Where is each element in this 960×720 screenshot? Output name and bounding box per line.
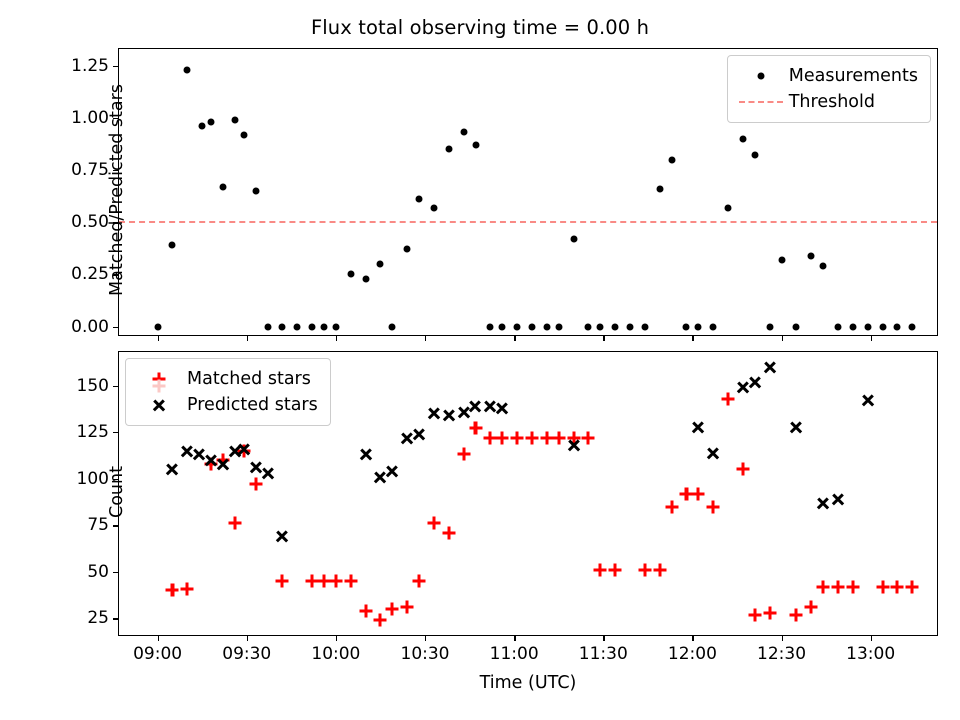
matched-star-point <box>789 607 804 622</box>
predicted-star-point <box>426 406 441 421</box>
matched-star-point <box>426 516 441 531</box>
bottom-y-axis-label: Count <box>107 402 127 582</box>
matched-star-point <box>706 499 721 514</box>
y-tick-mark <box>113 327 119 328</box>
x-tick-mark <box>158 335 159 341</box>
measurement-point <box>472 142 479 149</box>
measurement-point <box>199 123 206 130</box>
measurement-point <box>514 323 521 330</box>
measurement-point <box>279 323 286 330</box>
y-tick-label: 100 <box>77 469 109 489</box>
matched-star-point <box>441 525 456 540</box>
predicted-star-point <box>495 400 510 415</box>
matched-star-point <box>551 430 566 445</box>
y-tick-mark <box>113 386 119 387</box>
legend-label-predicted-stars: Predicted stars <box>183 395 318 415</box>
measurement-point <box>668 156 675 163</box>
predicted-star-point <box>706 445 721 460</box>
measurement-point <box>487 323 494 330</box>
matched-star-point <box>227 516 242 531</box>
x-tick-label: 09:30 <box>222 644 271 664</box>
matched-star-point <box>762 605 777 620</box>
matched-star-point <box>510 430 525 445</box>
predicted-star-point <box>860 393 875 408</box>
x-tick-label: 09:00 <box>133 644 182 664</box>
matched-star-point <box>691 486 706 501</box>
matched-star-point <box>581 430 596 445</box>
matched-star-point <box>328 574 343 589</box>
matched-star-point <box>608 562 623 577</box>
y-tick-label: 0.25 <box>71 264 109 284</box>
measurement-point <box>294 323 301 330</box>
measurement-point <box>864 323 871 330</box>
measurement-point <box>808 252 815 259</box>
matched-star-point <box>804 600 819 615</box>
matched-star-point <box>890 579 905 594</box>
x-tick-mark <box>871 635 872 641</box>
x-tick-mark <box>336 335 337 341</box>
legend-item-measurements[interactable]: Measurements <box>737 63 918 89</box>
x-tick-mark <box>514 635 515 641</box>
matched-star-point <box>358 603 373 618</box>
matched-star-point <box>905 579 920 594</box>
measurement-point <box>820 263 827 270</box>
measurement-point <box>597 323 604 330</box>
x-tick-label: 12:30 <box>757 644 806 664</box>
y-tick-mark <box>113 618 119 619</box>
measurement-point <box>309 323 316 330</box>
bottom-plot-legend: Matched stars Predicted stars <box>125 358 331 426</box>
matched-star-point <box>456 447 471 462</box>
predicted-star-point <box>566 438 581 453</box>
measurement-point <box>416 196 423 203</box>
matched-star-point <box>816 579 831 594</box>
legend-ghost-plus-icon <box>152 379 167 394</box>
measurement-point <box>909 323 916 330</box>
measurement-point <box>240 131 247 138</box>
predicted-star-point <box>762 359 777 374</box>
measurement-point <box>362 275 369 282</box>
measurement-point <box>766 323 773 330</box>
x-tick-mark <box>692 335 693 341</box>
predicted-star-point <box>358 447 373 462</box>
predicted-star-point <box>441 408 456 423</box>
measurement-point <box>555 323 562 330</box>
top-plot-axes: 0.000.250.500.751.001.25 Matched/Predict… <box>118 48 938 336</box>
measurement-point <box>169 242 176 249</box>
x-tick-mark <box>782 335 783 341</box>
legend-label-matched-stars: Matched stars <box>183 369 311 389</box>
measurement-point <box>543 323 550 330</box>
measurement-point <box>778 256 785 263</box>
matched-star-point <box>165 583 180 598</box>
matched-star-point <box>400 600 415 615</box>
measurement-point <box>430 204 437 211</box>
measurements-marker-icon <box>737 65 785 87</box>
page-title: Flux total observing time = 0.00 h <box>0 16 960 39</box>
threshold-line-icon <box>737 91 785 113</box>
x-axis-label: Time (UTC) <box>119 673 937 693</box>
measurement-point <box>154 323 161 330</box>
measurement-point <box>499 323 506 330</box>
measurement-point <box>347 271 354 278</box>
x-tick-mark <box>247 335 248 341</box>
predicted-star-point <box>215 456 230 471</box>
matched-star-point <box>845 579 860 594</box>
predicted-star-point <box>468 399 483 414</box>
measurement-point <box>377 260 384 267</box>
x-tick-mark <box>692 635 693 641</box>
matched-star-point <box>664 499 679 514</box>
matched-star-point <box>385 602 400 617</box>
predicted-star-point <box>236 441 251 456</box>
measurement-point <box>849 323 856 330</box>
measurement-point <box>627 323 634 330</box>
predicted-star-point <box>275 529 290 544</box>
legend-item-threshold[interactable]: Threshold <box>737 89 918 115</box>
measurement-point <box>656 185 663 192</box>
measurement-point <box>834 323 841 330</box>
matched-star-point <box>735 462 750 477</box>
matched-star-point <box>524 430 539 445</box>
measurement-point <box>460 129 467 136</box>
measurement-point <box>332 323 339 330</box>
predicted-star-point <box>260 466 275 481</box>
measurement-point <box>683 323 690 330</box>
measurement-point <box>321 323 328 330</box>
matched-star-point <box>275 574 290 589</box>
measurement-point <box>252 187 259 194</box>
x-tick-mark <box>603 635 604 641</box>
measurement-point <box>389 323 396 330</box>
predicted-star-point <box>816 495 831 510</box>
measurement-point <box>710 323 717 330</box>
predicted-star-point <box>747 374 762 389</box>
predicted-star-point <box>412 426 427 441</box>
predicted-star-point <box>789 419 804 434</box>
measurement-point <box>879 323 886 330</box>
legend-label-measurements: Measurements <box>785 66 918 86</box>
matched-star-point <box>593 562 608 577</box>
measurement-point <box>570 235 577 242</box>
threshold-line <box>119 221 937 223</box>
measurement-point <box>264 323 271 330</box>
x-tick-label: 11:30 <box>579 644 628 664</box>
measurement-point <box>404 246 411 253</box>
y-tick-label: 0.50 <box>71 212 109 232</box>
x-tick-mark <box>247 635 248 641</box>
measurement-point <box>585 323 592 330</box>
x-tick-mark <box>514 335 515 341</box>
matplotlib-figure: Flux total observing time = 0.00 h 0.000… <box>0 0 960 720</box>
top-plot-legend: Measurements Threshold <box>727 55 931 123</box>
matched-star-point <box>875 579 890 594</box>
matched-star-point <box>637 562 652 577</box>
y-tick-label: 0.00 <box>71 317 109 337</box>
x-tick-label: 12:00 <box>668 644 717 664</box>
matched-star-point <box>343 574 358 589</box>
matched-star-point <box>495 430 510 445</box>
measurement-point <box>793 323 800 330</box>
measurement-point <box>641 323 648 330</box>
measurement-point <box>725 204 732 211</box>
measurement-point <box>894 323 901 330</box>
y-tick-label: 125 <box>77 422 109 442</box>
x-tick-label: 10:00 <box>311 644 360 664</box>
predicted-stars-marker-icon <box>135 394 183 416</box>
y-tick-label: 50 <box>87 562 109 582</box>
measurement-point <box>231 116 238 123</box>
measurement-point <box>219 183 226 190</box>
y-tick-label: 150 <box>77 376 109 396</box>
legend-item-predicted-stars[interactable]: Predicted stars <box>135 392 318 418</box>
predicted-star-point <box>165 462 180 477</box>
measurement-point <box>184 66 191 73</box>
matched-star-point <box>830 579 845 594</box>
matched-star-point <box>180 581 195 596</box>
x-tick-mark <box>336 635 337 641</box>
matched-star-point <box>721 391 736 406</box>
x-tick-mark <box>871 335 872 341</box>
measurement-point <box>739 135 746 142</box>
predicted-star-point <box>385 464 400 479</box>
x-tick-mark <box>603 335 604 341</box>
x-tick-label: 13:00 <box>846 644 895 664</box>
matched-star-point <box>747 607 762 622</box>
measurement-point <box>751 152 758 159</box>
matched-star-point <box>652 562 667 577</box>
y-tick-label: 75 <box>87 515 109 535</box>
measurement-point <box>528 323 535 330</box>
matched-star-point <box>468 421 483 436</box>
bottom-plot-axes: 25507510012515009:0009:3010:0010:3011:00… <box>118 351 938 636</box>
predicted-star-point <box>691 419 706 434</box>
top-y-axis-label: Matched/Predicted stars <box>107 60 127 320</box>
x-tick-mark <box>425 635 426 641</box>
x-tick-mark <box>782 635 783 641</box>
measurement-point <box>695 323 702 330</box>
y-tick-label: 1.00 <box>71 108 109 128</box>
measurement-point <box>208 119 215 126</box>
y-tick-label: 1.25 <box>71 56 109 76</box>
matched-star-point <box>412 574 427 589</box>
x-tick-mark <box>158 635 159 641</box>
measurement-point <box>445 146 452 153</box>
predicted-star-point <box>830 492 845 507</box>
y-tick-label: 25 <box>87 608 109 628</box>
measurement-point <box>612 323 619 330</box>
x-tick-mark <box>425 335 426 341</box>
y-tick-label: 0.75 <box>71 160 109 180</box>
legend-label-threshold: Threshold <box>785 92 875 112</box>
x-tick-label: 11:00 <box>490 644 539 664</box>
x-tick-label: 10:30 <box>401 644 450 664</box>
